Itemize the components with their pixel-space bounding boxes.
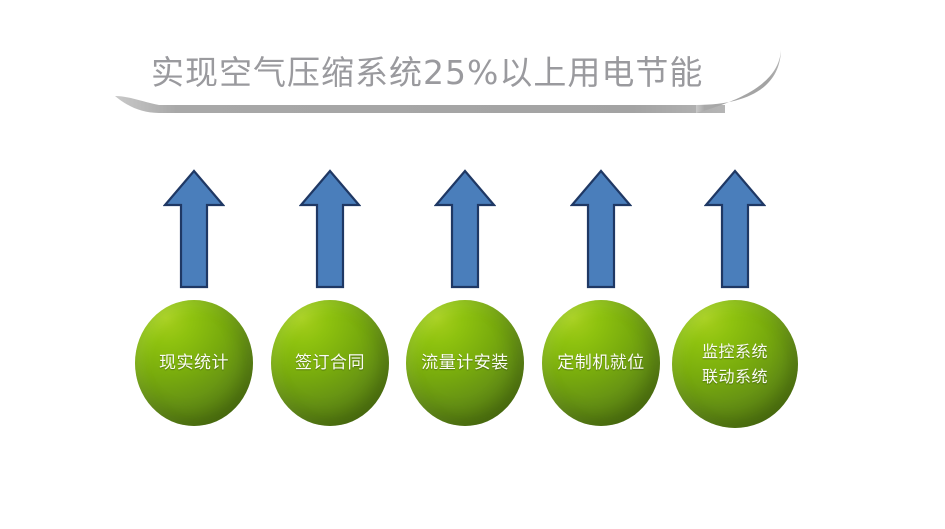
step-label-3: 流量计安装 — [417, 351, 513, 375]
up-arrow-icon-2 — [299, 168, 361, 290]
step-bubble-4[interactable]: 定制机就位 — [542, 300, 660, 426]
flow-step-2[interactable]: 签订合同 — [268, 168, 392, 430]
flow-step-5[interactable]: 监控系统 联动系统 — [673, 168, 797, 430]
step-bubble-5[interactable]: 监控系统 联动系统 — [672, 300, 798, 428]
step-label-5: 监控系统 联动系统 — [698, 339, 772, 389]
up-arrow-icon — [704, 168, 766, 290]
step-label-4: 定制机就位 — [553, 351, 649, 375]
step-label-1: 现实统计 — [155, 351, 233, 375]
step-label-2: 签订合同 — [291, 351, 369, 375]
step-bubble-3[interactable]: 流量计安装 — [406, 300, 524, 426]
up-arrow-icon-1 — [163, 168, 225, 290]
up-arrow-icon-5 — [704, 168, 766, 290]
up-arrow-icon-4 — [570, 168, 632, 290]
slide-canvas: 实现空气压缩系统25%以上用电节能 现实统计 签订合同 — [0, 0, 945, 529]
step-bubble-2[interactable]: 签订合同 — [271, 300, 389, 426]
flow-step-4[interactable]: 定制机就位 — [539, 168, 663, 430]
up-arrow-icon-3 — [434, 168, 496, 290]
flow-step-1[interactable]: 现实统计 — [132, 168, 256, 430]
up-arrow-icon — [299, 168, 361, 290]
up-arrow-icon — [434, 168, 496, 290]
step-bubble-1[interactable]: 现实统计 — [135, 300, 253, 426]
up-arrow-icon — [570, 168, 632, 290]
up-arrow-icon — [163, 168, 225, 290]
process-flow: 现实统计 签订合同 流量计安装 — [0, 0, 945, 529]
flow-step-3[interactable]: 流量计安装 — [403, 168, 527, 430]
